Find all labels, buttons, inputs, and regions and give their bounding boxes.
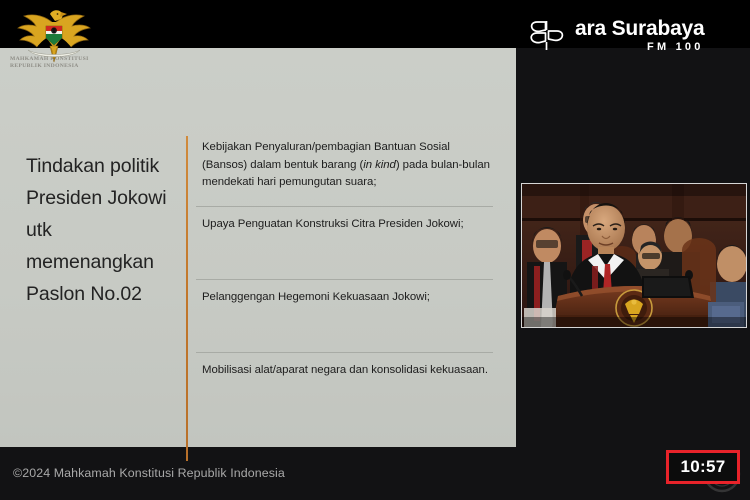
list-item: Mobilisasi alat/aparat negara dan konsol… [196,352,493,423]
slide-bullet-list: Kebijakan Penyaluran/pembagian Bantuan S… [196,134,493,423]
courtroom-scene [522,184,746,327]
bullet-text-3: Pelanggengan Hegemoni Kekuasaan Jokowi; [202,289,493,307]
broadcast-screen: MAHKAMAH KONSTITUSI REPUBLIK INDONESIA a… [0,0,750,500]
timer-value: 10:57 [681,457,726,477]
broadcaster-branding: ara Surabaya FM 100 [528,18,705,54]
orange-accent-rule [186,136,188,461]
slide-title: Tindakan politik Presiden Jokowi utk mem… [26,150,176,310]
wordmark-line-2: REPUBLIK INDONESIA [10,63,130,70]
institution-wordmark: MAHKAMAH KONSTITUSI REPUBLIK INDONESIA [10,56,130,70]
countdown-timer-badge: 10:57 [666,450,740,484]
list-item: Kebijakan Penyaluran/pembagian Bantuan S… [196,134,493,206]
bullet-text-2: Upaya Penguatan Konstruksi Citra Preside… [202,216,493,234]
bullet-text-4: Mobilisasi alat/aparat negara dan konsol… [202,362,493,380]
wordmark-line-1: MAHKAMAH KONSTITUSI [10,56,130,63]
bullet-text-1: Kebijakan Penyaluran/pembagian Bantuan S… [202,139,493,192]
list-item: Pelanggengan Hegemoni Kekuasaan Jokowi; [196,279,493,352]
brand-frequency: FM 100 [647,40,704,54]
four-petal-logo-icon [528,19,566,53]
list-item: Upaya Penguatan Konstruksi Citra Preside… [196,206,493,279]
presentation-slide: Tindakan politik Presiden Jokowi utk mem… [0,48,516,447]
live-video-inset[interactable] [521,183,747,328]
footer-copyright: ©2024 Mahkamah Konstitusi Republik Indon… [13,466,285,480]
brand-name: ara Surabaya [575,18,705,40]
